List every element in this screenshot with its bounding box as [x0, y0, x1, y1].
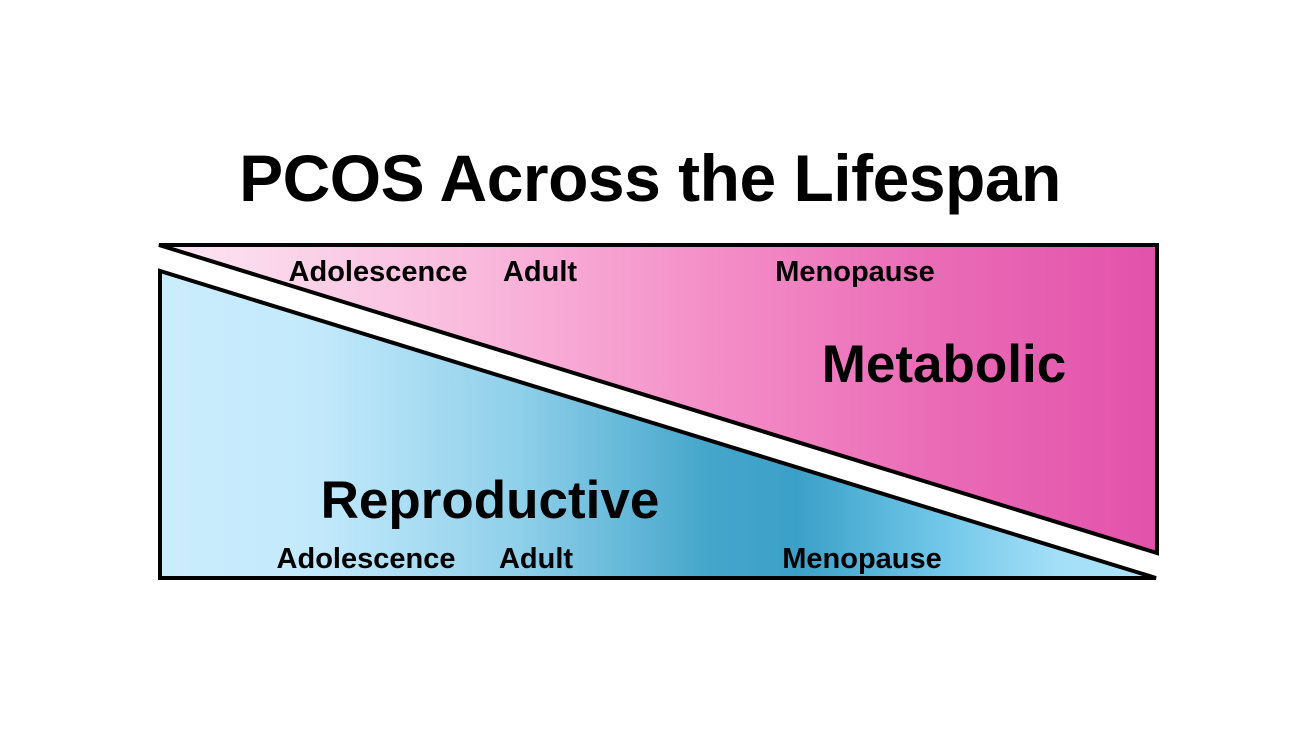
reproductive-label-adolescence: Adolescence	[277, 543, 456, 575]
metabolic-title: Metabolic	[822, 335, 1066, 394]
pcos-lifespan-figure: PCOS Across the Lifespan	[0, 0, 1300, 731]
reproductive-title: Reproductive	[321, 471, 660, 530]
reproductive-label-menopause: Menopause	[782, 543, 942, 575]
metabolic-label-menopause: Menopause	[775, 256, 935, 288]
metabolic-label-adolescence: Adolescence	[289, 256, 468, 288]
lifespan-diagram: Adolescence Adult Menopause Metabolic Re…	[0, 0, 1300, 731]
reproductive-label-adult: Adult	[499, 543, 573, 575]
metabolic-label-adult: Adult	[503, 256, 577, 288]
